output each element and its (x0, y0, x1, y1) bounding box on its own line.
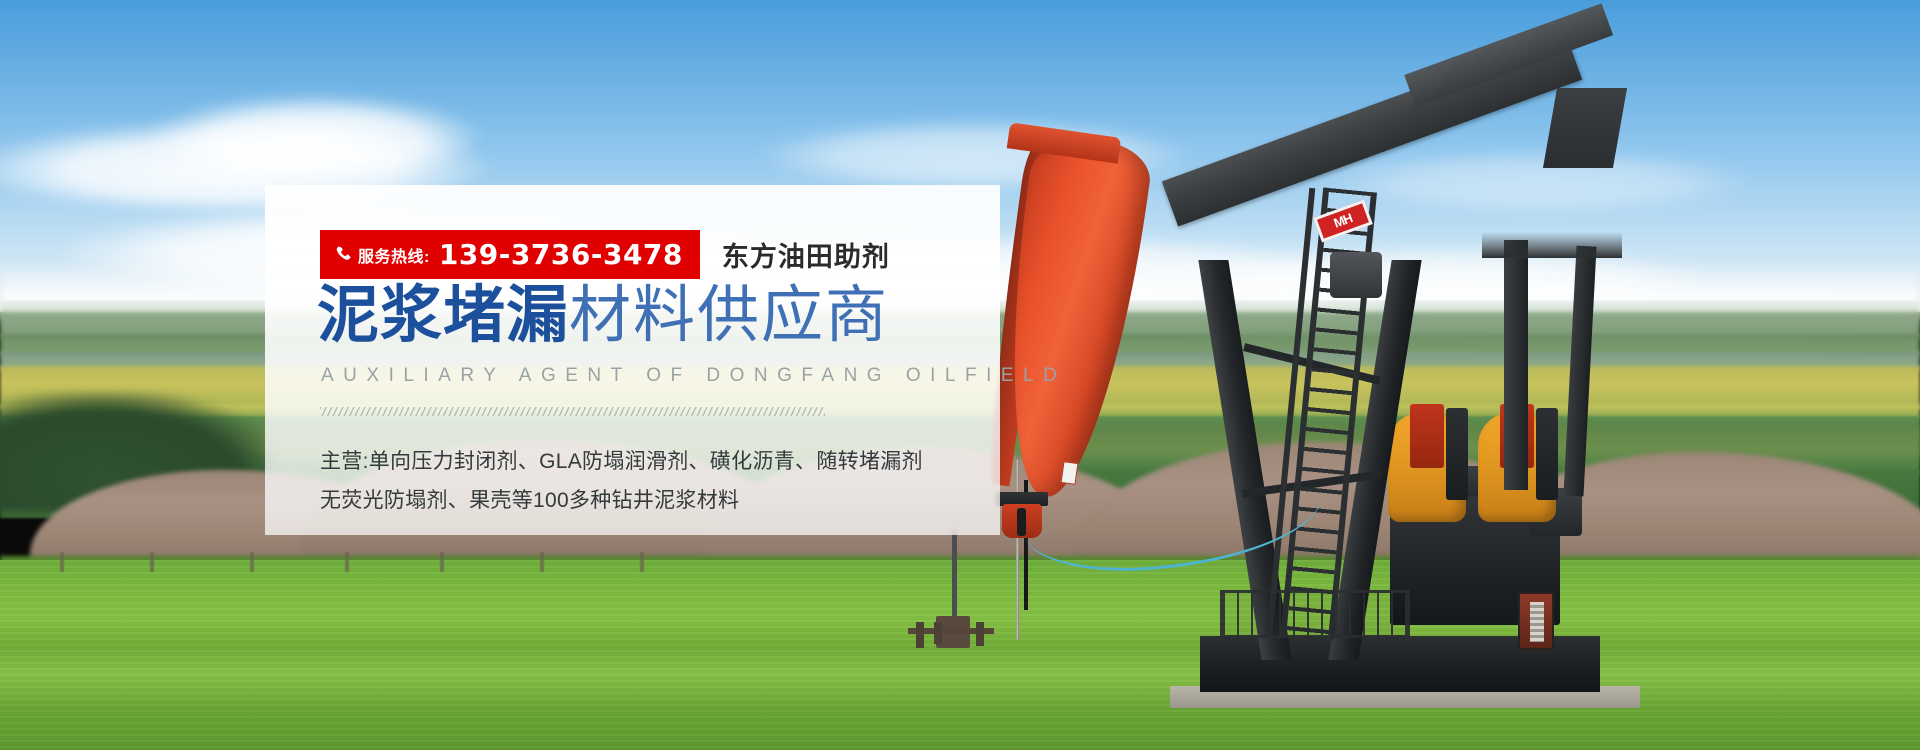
polished-rod (1016, 460, 1019, 640)
subtitle-english: AUXILIARY AGENT OF DONGFANG OILFIELD (321, 365, 1066, 387)
wellhead-valve (976, 622, 984, 646)
hotline-row: 服务热线: 139-3736-3478 东方油田助剂 (320, 230, 890, 279)
headline-highlight: 泥浆堵漏 (317, 281, 569, 350)
hatched-divider (320, 407, 825, 416)
blue-hose (1021, 448, 1328, 579)
description-line-1: 主营:单向压力封闭剂、GLA防塌润滑剂、磺化沥青、随转堵漏剂 (320, 443, 923, 482)
cloud (150, 96, 480, 176)
counterweight-plate (1446, 408, 1468, 500)
counterweight-plate (1536, 408, 1558, 500)
wellhead-valve (934, 622, 942, 644)
fence-post (250, 552, 254, 572)
walking-beam-cap (1543, 88, 1627, 168)
fence-post (150, 552, 154, 572)
description-line-2: 无荧光防塌剂、果壳等100多种钻井泥浆材料 (320, 482, 923, 521)
hotline-badge[interactable]: 服务热线: 139-3736-3478 (320, 230, 700, 279)
fence-post (440, 552, 444, 572)
wellhead-assembly (900, 530, 1010, 650)
hotline-label: 服务热线: (358, 243, 430, 267)
equalizer-beam (1482, 232, 1622, 258)
headline: 泥浆堵漏材料供应商 (317, 285, 889, 347)
electrical-box (1518, 592, 1554, 650)
hero-banner: MH 服务热线: 139-3736-3478 (0, 0, 1920, 750)
center-bearing (1330, 252, 1382, 298)
counterweight (1410, 404, 1444, 468)
wellhead-valve (916, 622, 924, 648)
hotline-number: 139-3736-3478 (439, 238, 683, 271)
oil-pumpjack: MH (1030, 60, 1590, 700)
headline-rest: 材料供应商 (569, 281, 889, 350)
fence-post (60, 552, 64, 572)
support-post (1504, 240, 1528, 490)
safety-railing (1220, 590, 1410, 638)
brand-name: 东方油田助剂 (722, 235, 890, 274)
fence-post (345, 552, 349, 572)
promo-panel: 服务热线: 139-3736-3478 东方油田助剂 泥浆堵漏材料供应商 AUX… (265, 185, 1000, 535)
phone-icon (334, 245, 353, 264)
fence-post (640, 552, 644, 572)
fence-post (540, 552, 544, 572)
description-block: 主营:单向压力封闭剂、GLA防塌润滑剂、磺化沥青、随转堵漏剂 无荧光防塌剂、果壳… (320, 443, 923, 521)
wellhead-arm (954, 628, 994, 634)
wellhead-stem (952, 530, 957, 626)
